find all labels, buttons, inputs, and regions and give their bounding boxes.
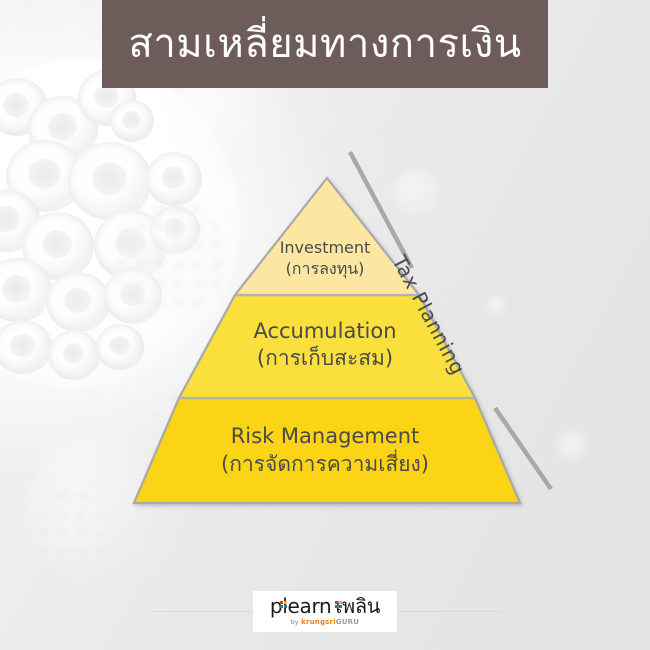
- pyramid-tier-top[interactable]: [235, 178, 419, 295]
- page-title: สามเหลี่ยมทางการเงิน: [128, 24, 521, 64]
- logo-by: by: [291, 619, 299, 626]
- poster-canvas: สามเหลี่ยมทางการเงิน: [0, 0, 650, 650]
- pyramid-diagram: Investment (การลงทุน) Accumulation (การเ…: [0, 0, 650, 650]
- header-bar: สามเหลี่ยมทางการเงิน: [102, 0, 548, 88]
- logo-brand-suffix: GURU: [336, 618, 359, 626]
- footer-rule-right: [396, 611, 501, 612]
- footer-rule-left: [150, 611, 255, 612]
- logo-brand: krungsri: [301, 618, 336, 626]
- logo-tagline: by krungsriGURU: [291, 618, 359, 627]
- pyramid-tier-bottom[interactable]: [134, 398, 520, 503]
- pyramid-svg: [0, 0, 650, 650]
- brand-logo[interactable]: pl earn เพลิน by krungsriGURU: [253, 591, 397, 632]
- logo-wordmark: pl earn เพลิน: [270, 596, 380, 617]
- logo-letters-earn: earn: [288, 594, 332, 618]
